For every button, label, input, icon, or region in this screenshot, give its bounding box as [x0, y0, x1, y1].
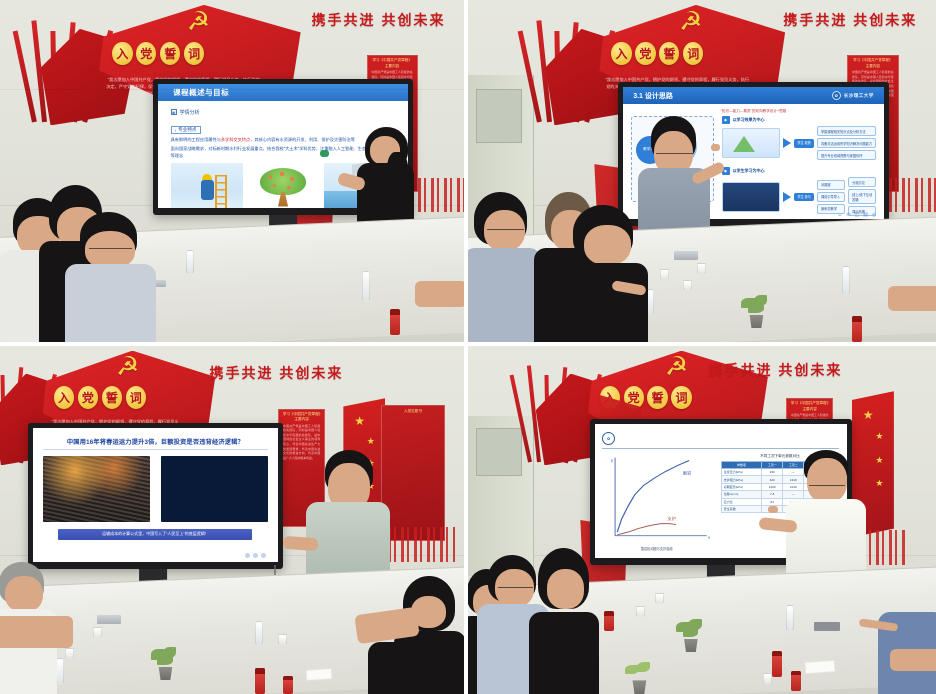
wall-slogan: 携手共进 共创未来 [209, 363, 343, 383]
high-speed-rail-photo [161, 456, 268, 522]
slide-banner: 运输成本的计算公式里，中国写入了“人民至上”的底层逻辑！ [58, 529, 252, 540]
placard-title: 入党志愿书 [386, 409, 440, 414]
slide-title: 中国用16年将春运运力提升3倍，巨额投资是否违背经济逻辑？ [43, 437, 269, 450]
audience-person [353, 604, 427, 694]
oath-title-badges: 入 党 誓 词 [112, 42, 204, 65]
oath-badge: 党 [78, 386, 98, 409]
slide-header: ✿ [602, 432, 839, 449]
thermos-flask [852, 316, 862, 342]
panel-bottom-right: ☭ 入 党 誓 词 “我志愿加入中国共产党，拥护党的纲领，遵守党的章程，履行党员… [468, 346, 936, 694]
oath-badge: 词 [683, 42, 703, 65]
eyeglasses [656, 153, 693, 156]
university-seal-icon: ✿ [602, 432, 615, 445]
star-icon: ★ [354, 415, 365, 427]
block-title: 以学生学习为中心 [733, 168, 765, 174]
oath-badge: 词 [671, 386, 691, 409]
slide-header-title: 3.1 设计思路 [633, 91, 673, 101]
star-icon: ★ [863, 409, 874, 421]
university-name: 长沙理工大学 [844, 93, 874, 99]
svg-text:p: p [611, 457, 614, 462]
thermos-flask [772, 651, 782, 677]
panel-top-left: ☭ 入 党 誓 词 “我志愿加入中国共产党，拥护党的纲领，遵守党的章程，履行党员… [0, 0, 464, 342]
thermos-flask [390, 309, 400, 335]
table-plant [148, 646, 182, 680]
audience-person [468, 192, 543, 342]
slide-header: 课程概述与目标 [158, 84, 408, 101]
method-item: 课前引导导入 [817, 192, 845, 202]
display-screen[interactable]: 中国用16年将春运运力提升3倍，巨额投资是否违背经济逻辑？ 运输成本的计算公式里… [28, 423, 283, 569]
mountain-illustration [722, 128, 781, 158]
panel-top-right: ☭ 入 党 誓 词 “我志愿加入中国共产党，拥护党的纲领，遵守党的章程，履行党员… [468, 0, 936, 342]
oath-badge: 词 [126, 386, 146, 409]
oath-badge: 誓 [160, 42, 180, 65]
hammer-and-sickle-icon: ☭ [177, 3, 219, 38]
slide-canvas: 中国用16年将春运运力提升3倍，巨额投资是否违背经济逻辑？ 运输成本的计算公式里… [33, 428, 278, 562]
audience-person [408, 274, 464, 342]
slide-header-bar: 3.1 设计思路 ✿ 长沙理工大学 [623, 87, 884, 104]
arrow-right-icon [783, 138, 791, 148]
paper-cup [660, 269, 669, 280]
handout-paper [306, 668, 333, 681]
star-icon: ★ [875, 456, 883, 465]
crowded-station-photo [43, 456, 150, 522]
audience-person [562, 205, 656, 342]
book-icon: ▤ [863, 212, 868, 218]
slide-tag: › 专业特点 [171, 126, 201, 134]
university-logo: ✿ 长沙理工大学 [832, 91, 874, 100]
audience-person [885, 280, 936, 342]
pointing-hand [711, 144, 720, 151]
oath-badge: 誓 [647, 386, 667, 409]
target-icon: ◎ [872, 212, 876, 218]
eyeglasses [487, 229, 524, 232]
oath-badge: 入 [54, 386, 74, 409]
door-window [476, 89, 522, 142]
oath-title-badges: 入 党 誓 词 [611, 42, 703, 65]
paper-cup [763, 673, 772, 684]
chart-icon: ◫ [855, 212, 860, 218]
outcome-item: 具备灵活运用所学知识解决问题能力 [817, 138, 876, 148]
eyeglasses [809, 485, 846, 488]
hammer-and-sickle-icon: ☭ [671, 3, 710, 38]
discipline-tree: 水利水电工程 [247, 163, 319, 209]
door-window [476, 428, 522, 476]
user-icon: ☺ [837, 212, 842, 218]
oath-title-badges: 入 党 誓 词 [54, 386, 146, 409]
oath-badge: 誓 [102, 386, 122, 409]
chart-caption: 围岩松动圈与支护曲线 [602, 546, 711, 551]
paper-cup [697, 263, 706, 274]
thermos-flask [283, 676, 293, 694]
poster-title: 学习《中国共产党章程》主要内容 [283, 412, 321, 423]
wall-slogan: 携手共进 共创未来 [312, 10, 446, 30]
water-bottle [186, 250, 194, 274]
table-plant [622, 660, 656, 694]
paper-cup [278, 634, 287, 645]
method-item: 分组讨论 [848, 177, 876, 187]
panel-bottom-left: ☭ 入 党 誓 词 “我志愿加入中国共产党，拥护党的纲领，遵守党的章程，履行党员… [0, 346, 464, 694]
bag [814, 622, 840, 631]
presentation-clicker [288, 537, 298, 544]
block-effect-centered: ◆ 以学习效果为中心 学生 收获 [722, 116, 877, 160]
slide-caption: “知识—能力—素质”的双向教学设计+思路 [631, 109, 877, 114]
block-student-centered: ◆ 以学生学习为中心 学生 参与 问题链 课前引导导入 [722, 167, 877, 216]
slide-icon-strip: ☺ ✉ ◫ ▤ ◎ [837, 212, 876, 218]
thermos-flask [604, 611, 614, 631]
audience-person [0, 610, 84, 694]
curve-chart: 围岩 支护 p u 围岩松动圈与支护曲线 [602, 454, 711, 547]
wall-slogan: 携手共进 共创未来 [783, 10, 917, 30]
thermos-flask [791, 671, 801, 691]
hammer-and-sickle-icon: ☭ [110, 349, 146, 383]
laptop [97, 615, 121, 624]
eyeglasses [498, 587, 532, 590]
volunteer-placard: 入党志愿书 [381, 405, 446, 541]
oath-badge: 词 [184, 42, 204, 65]
table-col-header: 工况一 [762, 461, 783, 468]
slide-tag-label: 专业特点 [178, 127, 196, 133]
paper-cup [636, 606, 645, 617]
handout-paper [805, 660, 836, 674]
star-icon: ★ [367, 437, 375, 446]
thermos-flask [255, 668, 265, 694]
oath-badge: 入 [112, 42, 132, 65]
audience-person [529, 548, 604, 694]
block-title: 以学习效果为中心 [733, 117, 765, 123]
method-item: 线上/线下互动答疑 [848, 189, 876, 204]
wall-slogan: 携手共进 共创未来 [709, 360, 843, 380]
table-plant [674, 618, 708, 652]
star-icon: ★ [875, 479, 883, 488]
chart-annotation-primary: 围岩 [683, 469, 692, 475]
water-bottle [362, 271, 370, 301]
pager-dots[interactable] [245, 553, 266, 558]
online-platform-screenshot [722, 182, 781, 212]
oath-badge: 党 [635, 42, 655, 65]
chart-annotation-secondary: 支护 [668, 515, 677, 521]
table-col-header: 参数项 [721, 461, 762, 468]
target-icon: ◆ [722, 116, 730, 124]
slide-bullet-label: 学情分析 [180, 109, 200, 116]
svg-text:u: u [708, 534, 710, 539]
table-plant [739, 294, 773, 328]
outcome-pill: 学生 收获 [794, 139, 814, 147]
poster-title: 学习《中国共产党章程》主要内容 [371, 58, 413, 69]
chat-icon: ✉ [846, 212, 850, 218]
book-icon: ▣ [171, 109, 177, 115]
audience-person [65, 212, 158, 342]
outcome-item: 提升专业领域视野与家国情怀 [817, 150, 876, 160]
chevron-right-icon: › [175, 128, 177, 133]
outcome-item: 掌握课程相关知识点及分析方法 [817, 126, 876, 136]
oath-badge: 党 [136, 42, 156, 65]
paper-cup [655, 593, 664, 604]
eyeglasses [89, 248, 132, 251]
star-icon: ★ [875, 432, 883, 441]
slide-photos [43, 456, 269, 522]
oath-badge: 誓 [659, 42, 679, 65]
method-item: 问题链 [817, 180, 845, 190]
poster-title: 学习《中国共产党章程》主要内容 [790, 401, 829, 412]
water-bottle [842, 266, 850, 294]
university-seal-icon: ✿ [832, 91, 841, 100]
photo-grid: ☭ 入 党 誓 词 “我志愿加入中国共产党，拥护党的纲领，遵守党的章程，履行党员… [0, 0, 936, 694]
oath-badge: 入 [611, 42, 631, 65]
laptop [674, 251, 698, 260]
slide-bullet: ▣ 学情分析 [171, 109, 396, 116]
arrow-right-icon [783, 192, 791, 202]
worker-illustration [171, 163, 243, 209]
water-bottle [255, 621, 263, 645]
chart-svg: 围岩 支护 p u [602, 454, 711, 547]
participation-pill: 学生 参与 [794, 193, 814, 201]
poster-title: 学习《中国共产党章程》主要内容 [852, 58, 895, 69]
hammer-and-sickle-icon: ☭ [658, 349, 696, 383]
water-bottle [786, 605, 794, 631]
audience-person [885, 645, 936, 694]
paper-cup [683, 280, 692, 291]
presentation-clicker [768, 506, 778, 513]
paper-cup [93, 627, 102, 638]
